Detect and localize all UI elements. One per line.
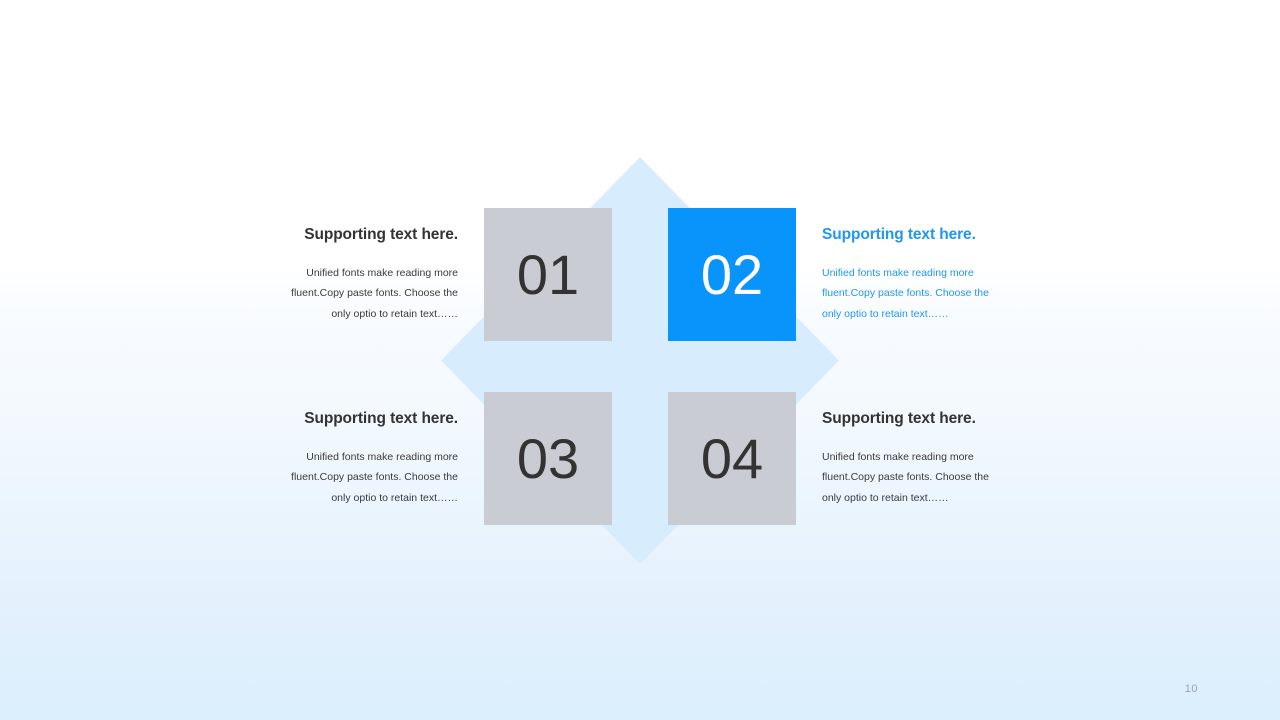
page-number: 10 [1185,683,1198,695]
text-block-04: Supporting text here. Unified fonts make… [796,392,992,508]
item-heading-04: Supporting text here. [822,410,992,429]
tile-number-label-01: 01 [517,247,579,303]
item-heading-03: Supporting text here. [288,410,458,429]
content-item-04[interactable]: 04 Supporting text here. Unified fonts m… [668,392,992,525]
number-tile-04[interactable]: 04 [668,392,796,525]
item-heading-02: Supporting text here. [822,226,992,245]
number-tile-03[interactable]: 03 [484,392,612,525]
content-item-01[interactable]: Supporting text here. Unified fonts make… [288,208,612,341]
content-row-top: Supporting text here. Unified fonts make… [0,208,1280,341]
text-block-01: Supporting text here. Unified fonts make… [288,208,484,324]
number-tile-02[interactable]: 02 [668,208,796,341]
item-body-04: Unified fonts make reading more fluent.C… [822,447,992,508]
tile-number-label-02: 02 [701,247,763,303]
content-row-bottom: Supporting text here. Unified fonts make… [0,392,1280,525]
item-body-01: Unified fonts make reading more fluent.C… [288,263,458,324]
content-item-03[interactable]: Supporting text here. Unified fonts make… [288,392,612,525]
item-body-03: Unified fonts make reading more fluent.C… [288,447,458,508]
tile-number-label-04: 04 [701,431,763,487]
item-heading-01: Supporting text here. [288,226,458,245]
tile-number-label-03: 03 [517,431,579,487]
text-block-03: Supporting text here. Unified fonts make… [288,392,484,508]
slide-canvas: Supporting text here. Unified fonts make… [0,0,1280,720]
content-item-02[interactable]: 02 Supporting text here. Unified fonts m… [668,208,992,341]
number-tile-01[interactable]: 01 [484,208,612,341]
text-block-02: Supporting text here. Unified fonts make… [796,208,992,324]
item-body-02: Unified fonts make reading more fluent.C… [822,263,992,324]
